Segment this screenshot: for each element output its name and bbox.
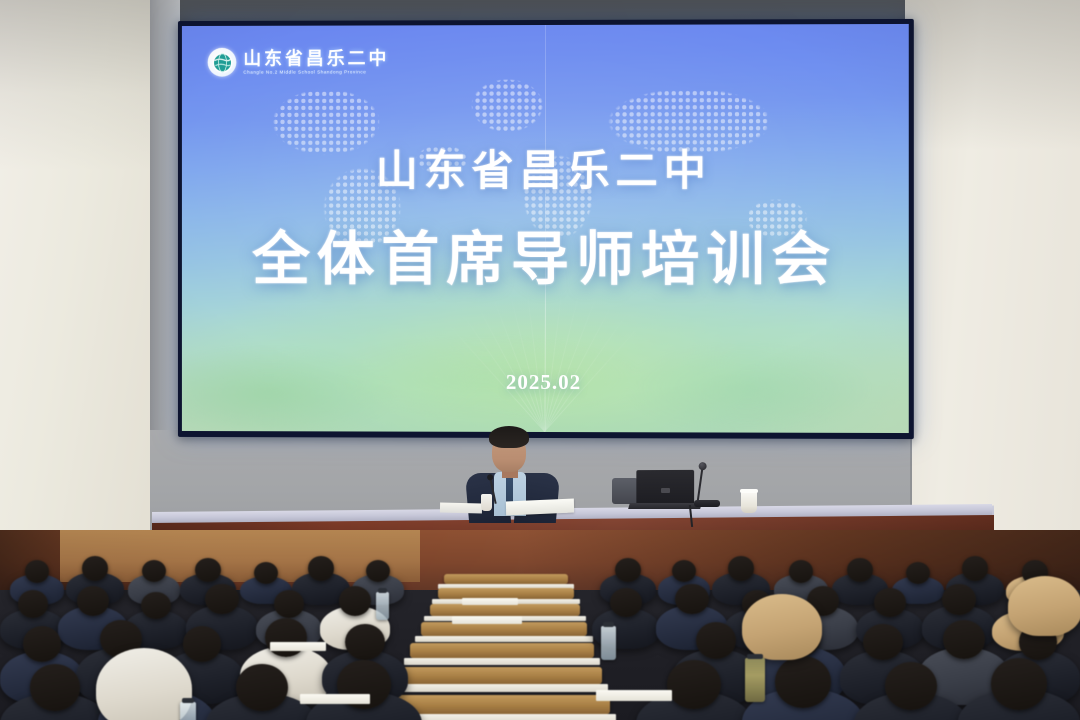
audience-head [345,624,385,660]
audience-head [308,556,335,581]
audience-head [610,588,641,617]
paper-cup [741,491,757,513]
audience-head [942,584,976,615]
audience-head [339,586,371,616]
handout-paper [452,616,522,624]
slide-title-block: 山东省昌乐二中 全体首席导师培训会 [182,137,909,297]
water-bottle [745,658,765,702]
audience-head [906,562,930,584]
slide-title-primary: 山东省昌乐二中 [182,137,909,199]
handout-paper [596,690,672,701]
audience-head [667,660,720,709]
audience-figure [1008,576,1080,636]
water-bottle [180,702,196,720]
audience-head [675,584,708,614]
conference-photo: 山东省昌乐二中 Changle No.2 Middle School Shand… [0,0,1080,720]
desk-surface [415,636,593,642]
audience-head [962,556,989,581]
audience-head [943,620,985,659]
audience-head [30,664,81,711]
laptop-side-object [612,478,638,504]
audience-head [141,592,170,619]
microphone-base [694,500,720,507]
slide-title-secondary: 全体首席导师培训会 [182,212,909,296]
right-wall-shadow [905,0,1080,150]
audience-head [863,624,903,660]
slide-date: 2025.02 [182,369,909,396]
audience-head [274,590,304,618]
presentation-slide: 山东省昌乐二中 Changle No.2 Middle School Shand… [182,24,909,433]
handout-paper [300,694,370,704]
audience-head [265,618,307,657]
audience-head [254,562,278,584]
led-display: 山东省昌乐二中 Changle No.2 Middle School Shand… [178,19,914,439]
audience-figure [96,648,192,720]
audience-head [615,558,641,582]
water-bottle [601,626,616,660]
handout-paper [270,642,326,651]
audience-head [82,556,109,581]
audience-head [885,662,937,710]
seat-back [444,574,568,584]
water-bottle [376,592,389,620]
audience-head [23,626,62,662]
audience-head [183,626,222,662]
audience-figures [0,530,1080,720]
left-wall-shadow [0,0,152,170]
audience-figure [742,594,822,660]
desk-documents-secondary [440,503,482,514]
seat-back [430,604,580,616]
school-name-cn: 山东省昌乐二中 [243,49,389,67]
audience-head [991,658,1047,710]
audience-area [0,530,1080,720]
audience-head [789,560,814,583]
audience-head [728,556,755,581]
school-logo-text: 山东省昌乐二中 Changle No.2 Middle School Shand… [243,49,389,75]
seat-back [410,643,594,658]
audience-head [672,560,696,582]
audience-head [142,560,166,582]
audience-head [366,560,390,582]
audience-head [195,558,221,582]
audience-head [77,586,109,616]
audience-head [236,664,288,711]
audience-head [874,588,905,617]
presenter-hair [489,426,529,448]
school-logo: 山东省昌乐二中 Changle No.2 Middle School Shand… [208,47,390,76]
audience-head [25,560,50,583]
seat-back [398,667,602,684]
audience-head [847,558,873,582]
school-name-en: Changle No.2 Middle School Shandong Prov… [243,70,389,75]
seat-back [421,622,587,636]
handout-paper [462,598,518,605]
audience-head [18,590,48,618]
laptop [636,470,694,505]
audience-head [205,584,238,614]
audience-head [775,656,831,708]
presenter-cup [481,494,492,511]
desk-surface [404,658,600,665]
desk-surface [392,684,608,692]
globe-emblem-icon [208,48,237,77]
